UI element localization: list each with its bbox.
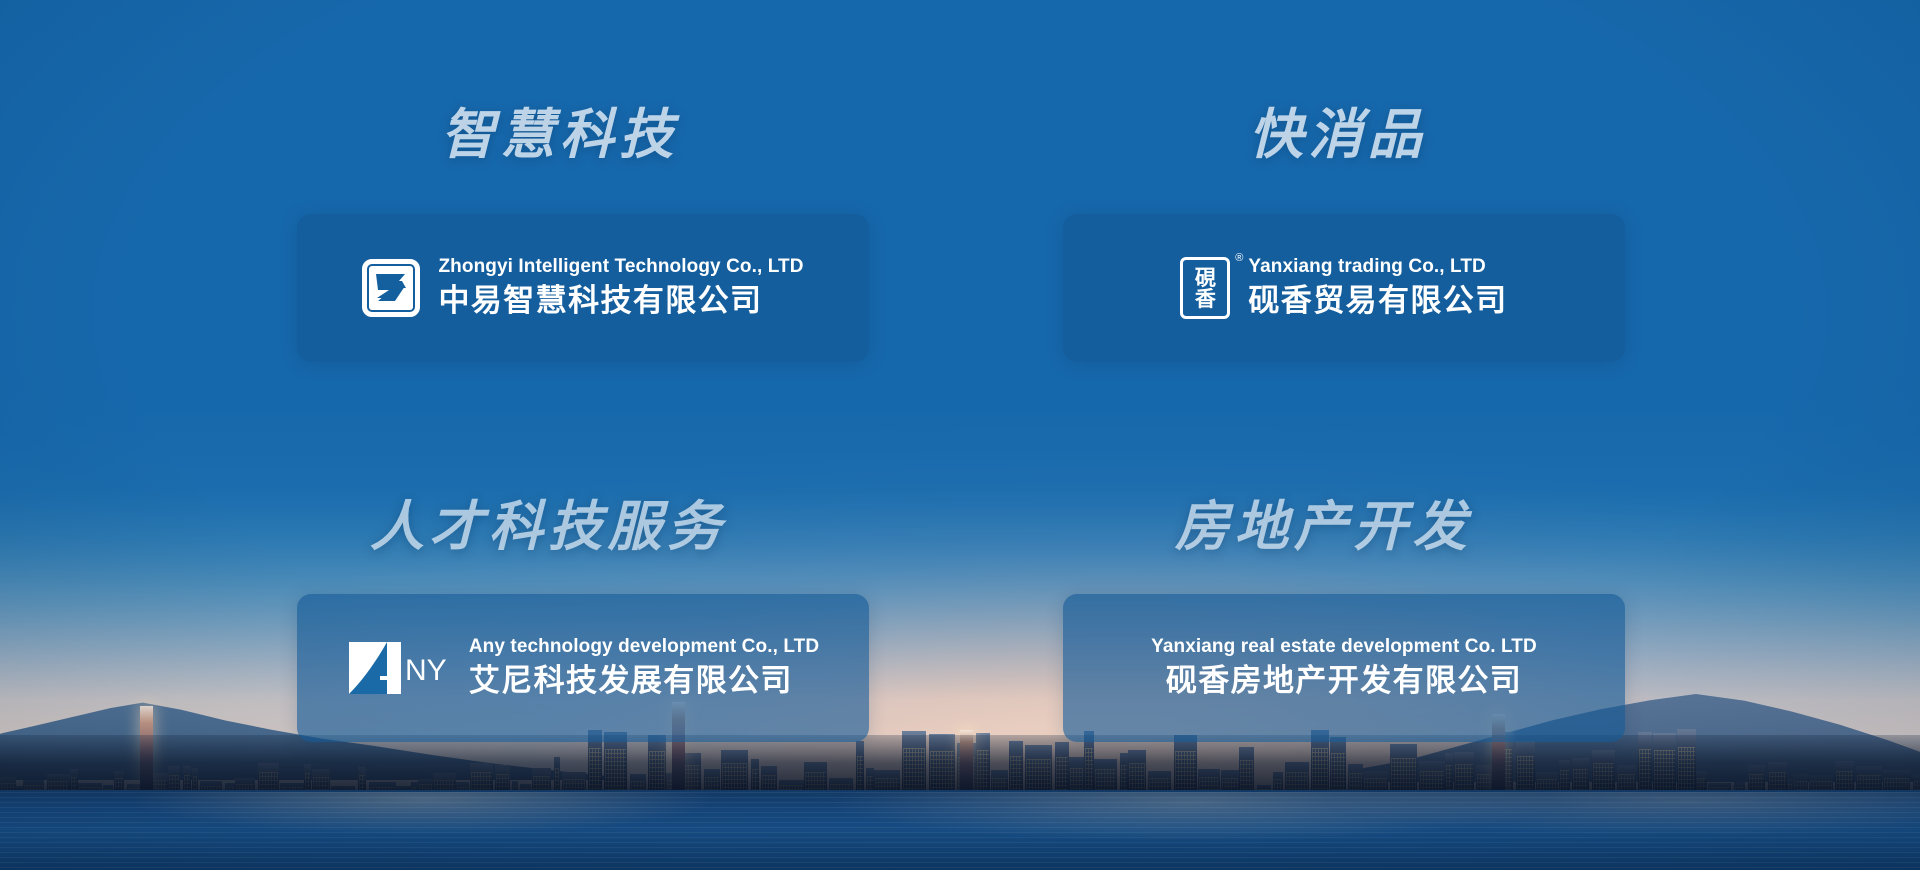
company-cn-name: 砚香贸易有限公司 (1248, 281, 1507, 321)
company-card-yanxiang-real-estate[interactable]: Yanxiang real estate development Co. LTD… (1063, 594, 1625, 742)
content-layer: 智慧科技 Zhongyi Intelligent Technology Co. (0, 0, 1920, 870)
company-en-name: Zhongyi Intelligent Technology Co., LTD (438, 255, 803, 279)
company-en-name: Yanxiang real estate development Co. LTD (1151, 635, 1537, 659)
section-heading-real-estate: 房地产开发 (1175, 500, 1472, 554)
any-wordmark-text: NY (405, 654, 447, 687)
company-card-any-technology[interactable]: NY Any technology development Co., LTD 艾… (297, 594, 869, 742)
company-card-zhongyi[interactable]: Zhongyi Intelligent Technology Co., LTD … (297, 214, 869, 362)
company-cn-name: 砚香房地产开发有限公司 (1166, 661, 1522, 701)
section-heading-fmcg: 快消品 (1249, 108, 1427, 162)
section-heading-talent-tech-service: 人才科技服务 (370, 500, 726, 554)
zhongyi-logo (362, 259, 420, 317)
seal-char-bottom: 香 (1195, 288, 1216, 309)
yanxiang-seal-logo: 硯 香 ® (1180, 257, 1230, 319)
any-logo: NY (347, 638, 459, 698)
company-cn-name: 艾尼科技发展有限公司 (469, 661, 819, 701)
registered-trademark-icon: ® (1235, 253, 1243, 264)
company-card-yanxiang-trading[interactable]: 硯 香 ® Yanxiang trading Co., LTD 砚香贸易有限公司 (1063, 214, 1625, 362)
company-en-name: Yanxiang trading Co., LTD (1248, 255, 1507, 279)
company-cn-name: 中易智慧科技有限公司 (438, 281, 803, 321)
section-heading-smart-technology: 智慧科技 (441, 108, 679, 162)
seal-char-top: 硯 (1195, 267, 1216, 288)
company-en-name: Any technology development Co., LTD (469, 635, 819, 659)
promo-banner: 智慧科技 Zhongyi Intelligent Technology Co. (0, 0, 1920, 870)
